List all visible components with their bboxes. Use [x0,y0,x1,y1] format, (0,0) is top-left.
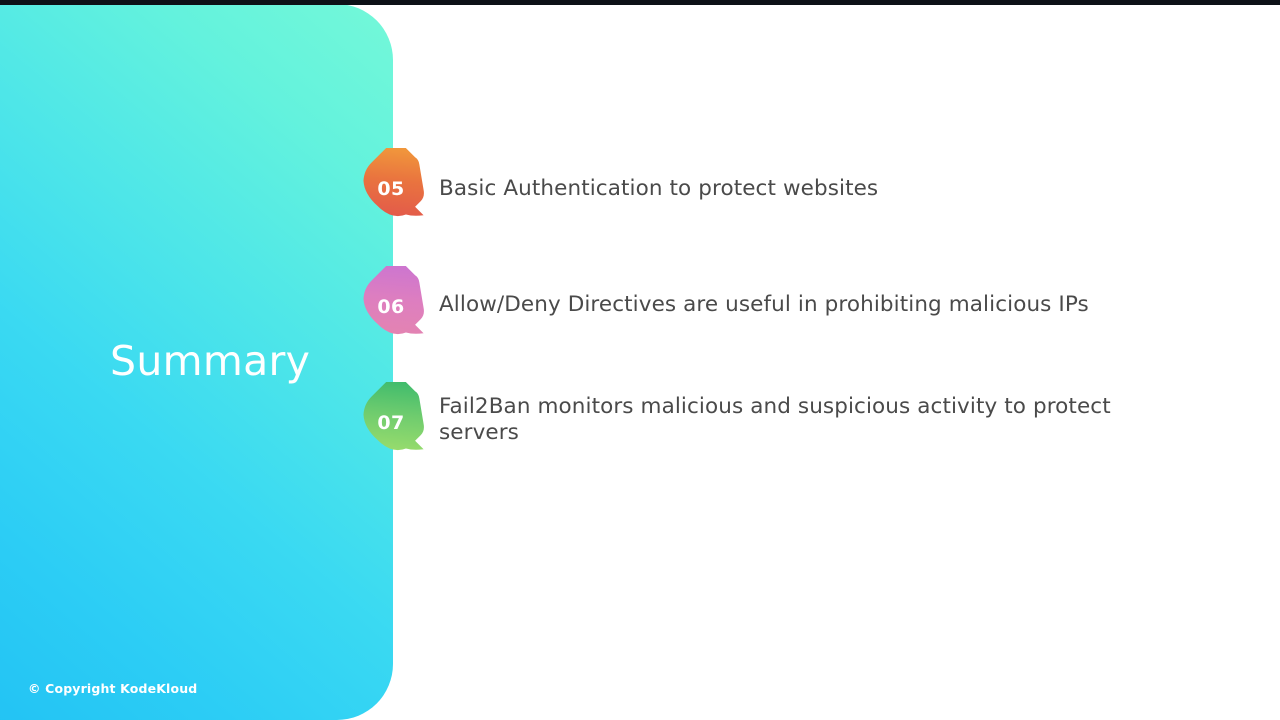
badge-number: 06 [362,266,420,346]
page-title: Summary [110,333,390,389]
badge-marker-06: 06 [362,266,430,346]
slide-canvas: Summary © Copyright KodeKloud 05 Basic A… [0,0,1280,720]
copyright-notice: © Copyright KodeKloud [28,681,197,696]
list-item-text: Basic Authentication to protect websites [439,176,1139,202]
list-item-text: Allow/Deny Directives are useful in proh… [439,292,1159,318]
top-dark-band [0,0,1280,5]
badge-number: 05 [362,148,420,228]
badge-marker-07: 07 [362,382,430,462]
list-item-text: Fail2Ban monitors malicious and suspicio… [439,394,1129,446]
badge-marker-05: 05 [362,148,430,228]
badge-number: 07 [362,382,420,462]
